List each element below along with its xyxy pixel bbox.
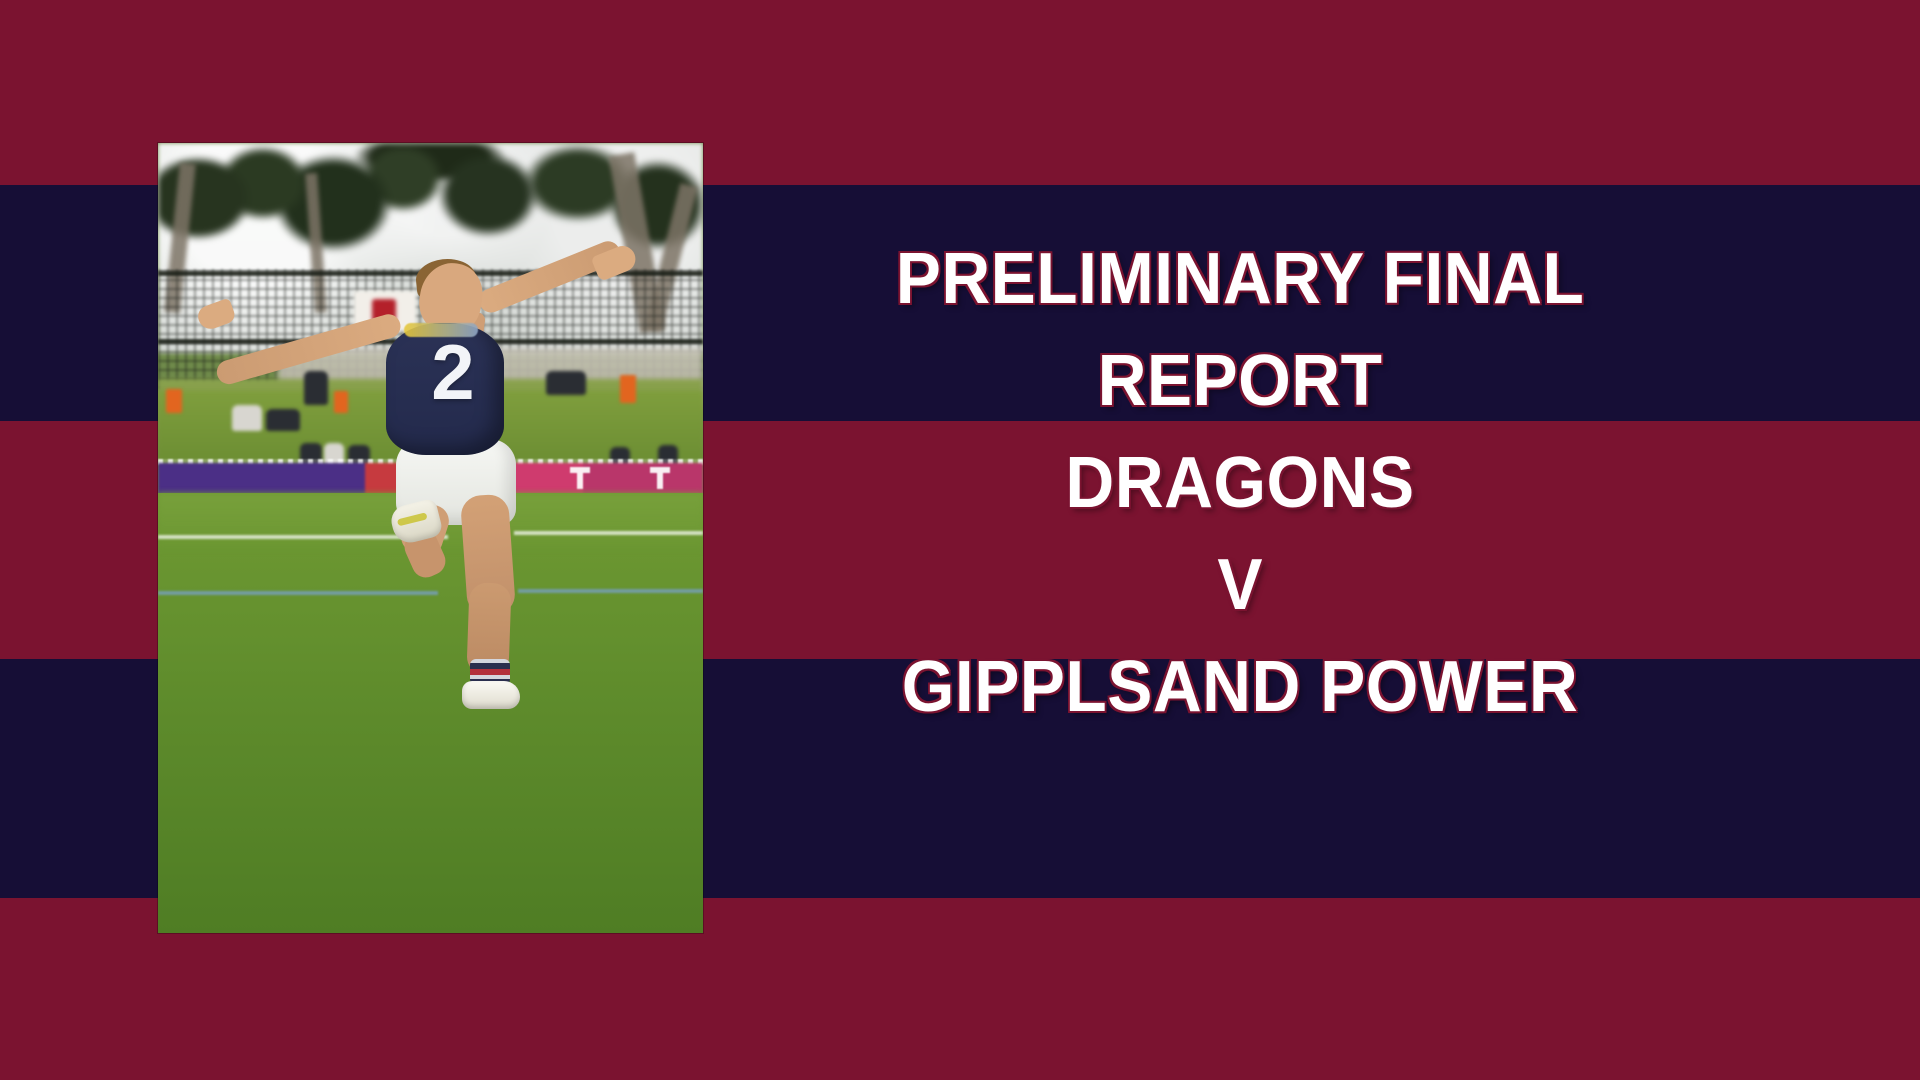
title-line-dragons: DRAGONS [789,432,1691,534]
photo-board-logo [570,467,590,489]
photo-spectator [266,409,300,431]
photo-cone [620,375,636,403]
photo-board-logo [650,467,670,489]
player-front-boot [462,681,520,709]
player-photo: 2 [158,143,703,933]
player-jumper-number: 2 [396,333,508,411]
title-block: PRELIMINARY FINAL REPORT DRAGONS V GIPPL… [760,228,1720,738]
photo-spectator [232,405,262,431]
photo-cone [334,391,348,413]
title-line-preliminary-final: PRELIMINARY FINAL [789,228,1691,330]
title-line-report: REPORT [789,330,1691,432]
photo-spectator [304,371,328,405]
photo-field-line-blue [158,591,438,595]
title-line-gipplsand-power: GIPPLSAND POWER [789,636,1691,738]
photo-field-line-blue [518,589,703,593]
poster-canvas: 2 PRELIMINARY FINAL REPORT DRAGONS V GIP… [0,0,1920,1080]
photo-stage: 2 [158,143,703,933]
photo-spectator [546,371,586,395]
title-line-versus: V [789,534,1691,636]
photo-field-line [514,531,703,535]
photo-cone [166,389,182,413]
